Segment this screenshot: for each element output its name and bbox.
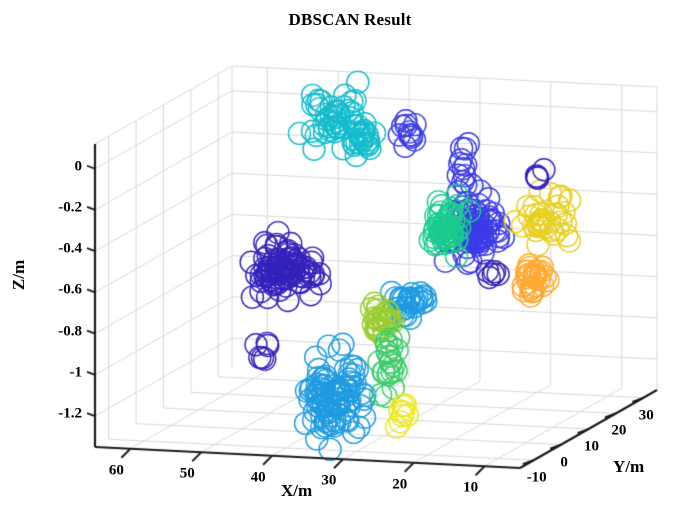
x-tick-label-5: 10 <box>463 480 478 497</box>
x-axis-title: X/m <box>281 481 312 501</box>
z-tick-label-1: -0.2 <box>58 199 82 216</box>
page-title: DBSCAN Result <box>0 10 700 30</box>
y-axis-title: Y/m <box>613 457 644 477</box>
z-tick-label-2: -0.4 <box>58 241 82 258</box>
z-axis-title: Z/m <box>9 260 29 290</box>
x-tick-label-0: 60 <box>109 462 124 479</box>
y-tick-label-4: -10 <box>527 470 547 487</box>
y-tick-label-0: 30 <box>639 407 654 424</box>
z-tick-label-6: -1.2 <box>58 406 82 423</box>
figure-3d-scatter: DBSCAN Result Z/m X/m Y/m 0-0.2-0.4-0.6-… <box>0 0 700 526</box>
y-tick-label-3: 0 <box>560 454 568 471</box>
x-tick-label-1: 50 <box>180 466 195 483</box>
x-tick-label-4: 20 <box>392 476 407 493</box>
z-tick-label-0: 0 <box>75 158 83 175</box>
y-tick-label-1: 20 <box>611 423 626 440</box>
y-tick-label-2: 10 <box>584 439 599 456</box>
z-tick-label-4: -0.8 <box>58 323 82 340</box>
z-tick-label-3: -0.6 <box>58 282 82 299</box>
z-tick-label-5: -1 <box>70 364 83 381</box>
x-tick-label-3: 30 <box>321 473 336 490</box>
x-tick-label-2: 40 <box>251 469 266 486</box>
